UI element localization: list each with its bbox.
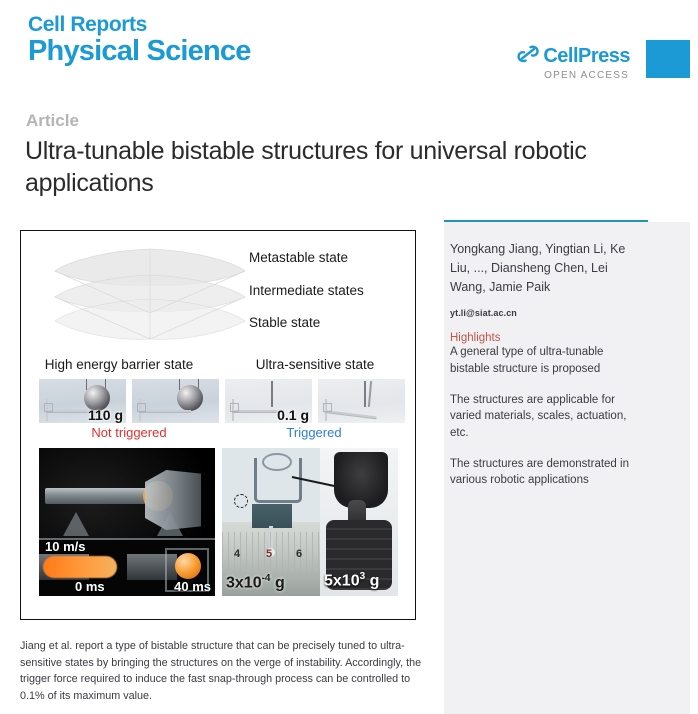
label-impact-speed: 10 m/s [45, 539, 85, 554]
support-tripod [63, 512, 89, 536]
figure-caption: Jiang et al. report a type of bistable s… [20, 638, 426, 705]
probe-needle-icon [271, 381, 273, 407]
zoom-marker-icon [234, 494, 248, 508]
load-value-110g: 110 g [88, 407, 123, 423]
steel-ball-icon [177, 385, 203, 411]
gripper-loop-icon [262, 453, 292, 471]
clip-shape [323, 403, 332, 412]
photo-high-energy-before: 110 g [39, 379, 126, 423]
min-force-exponent: -4 [262, 573, 271, 584]
max-force-value: 5x103 g [324, 571, 379, 590]
open-access-label: OPEN ACCESS [517, 71, 630, 81]
page-title: Ultra-tunable bistable structures for un… [25, 136, 645, 200]
state-label-stable: Stable state [249, 316, 416, 330]
max-force-base: 5x10 [324, 572, 360, 589]
cantilever-arm [139, 410, 191, 412]
status-triggered: Triggered [219, 425, 409, 440]
cantilever-arm-snapped [325, 410, 377, 418]
load-value-0.1g: 0.1 g [277, 407, 309, 423]
probe-needle-icon [368, 381, 372, 407]
bistable-target-structure [145, 470, 201, 530]
clip-shape [137, 403, 146, 412]
bistable-specimen [252, 504, 292, 528]
brand-color-block [646, 40, 690, 78]
clip-shape [44, 403, 53, 412]
state-label-metastable: Metastable state [249, 251, 416, 265]
status-not-triggered: Not triggered [39, 425, 219, 440]
photo-high-speed-impact: 10 m/s 0 ms 40 ms [39, 448, 215, 596]
photo-force-range: 4 5 6 3x10-4 g 5x103 g [222, 448, 398, 596]
cellpress-swirl-icon [517, 44, 539, 68]
max-force-unit: g [365, 572, 379, 589]
highlight-item: The structures are demonstrated in vario… [450, 456, 646, 489]
motion-streak [43, 556, 117, 578]
label-time-start: 0 ms [75, 579, 105, 594]
highlights-heading: Highlights [450, 332, 646, 344]
heading-high-energy-barrier: High energy barrier state [21, 357, 217, 372]
application-photo-row: 10 m/s 0 ms 40 ms 4 5 6 3x10-4 g 5x103 g [39, 448, 398, 596]
corresponding-email[interactable]: yt.li@siat.ac.cn [450, 308, 646, 318]
journal-name-line2: Physical Science [28, 37, 251, 66]
min-force-base: 3x10 [226, 574, 262, 591]
state-label-intermediate: Intermediate states [249, 284, 416, 298]
ruler-tick-5: 5 [266, 548, 272, 560]
ruler-tick-6: 6 [296, 548, 302, 560]
journal-masthead: Cell Reports Physical Science [28, 14, 251, 66]
min-force-unit: g [271, 574, 285, 591]
min-force-value: 3x10-4 g [226, 573, 285, 592]
graphical-abstract: Metastable state Intermediate states Sta… [20, 230, 416, 620]
heading-ultra-sensitive: Ultra-sensitive state [217, 357, 413, 372]
article-type-kicker: Article [26, 111, 79, 131]
clip-shape [230, 403, 239, 412]
photo-high-energy-after [132, 379, 219, 423]
author-list: Yongkang Jiang, Yingtian Li, Ke Liu, ...… [450, 240, 646, 296]
stacked-sheets-icon [45, 237, 255, 349]
label-time-end: 40 ms [174, 579, 211, 594]
cellpress-logo: CellPress OPEN ACCESS [517, 44, 630, 81]
photo-ultra-sensitive-before: 0.1 g [225, 379, 312, 423]
experiment-thumbnail-row: 110 g 0.1 g [39, 379, 405, 423]
bistable-sheets-diagram: Metastable state Intermediate states Sta… [21, 235, 415, 353]
cellpress-wordmark: CellPress [543, 46, 630, 66]
trigger-status-row: Not triggered Triggered [39, 425, 409, 440]
photo-ultra-sensitive-after [318, 379, 405, 423]
projectile-ball [175, 553, 201, 579]
ruler-tick-4: 4 [234, 548, 240, 560]
probe-needle-icon [364, 381, 366, 407]
highlight-item: A general type of ultra-tunable bistable… [450, 344, 646, 377]
highlight-item: The structures are applicable for varied… [450, 392, 646, 442]
comparison-headings: High energy barrier state Ultra-sensitiv… [21, 357, 415, 372]
state-label-group: Metastable state Intermediate states Sta… [249, 251, 416, 330]
sidebar-content: Yongkang Jiang, Yingtian Li, Ke Liu, ...… [450, 240, 646, 489]
launch-tube [45, 488, 157, 504]
journal-name-line1: Cell Reports [28, 14, 251, 35]
